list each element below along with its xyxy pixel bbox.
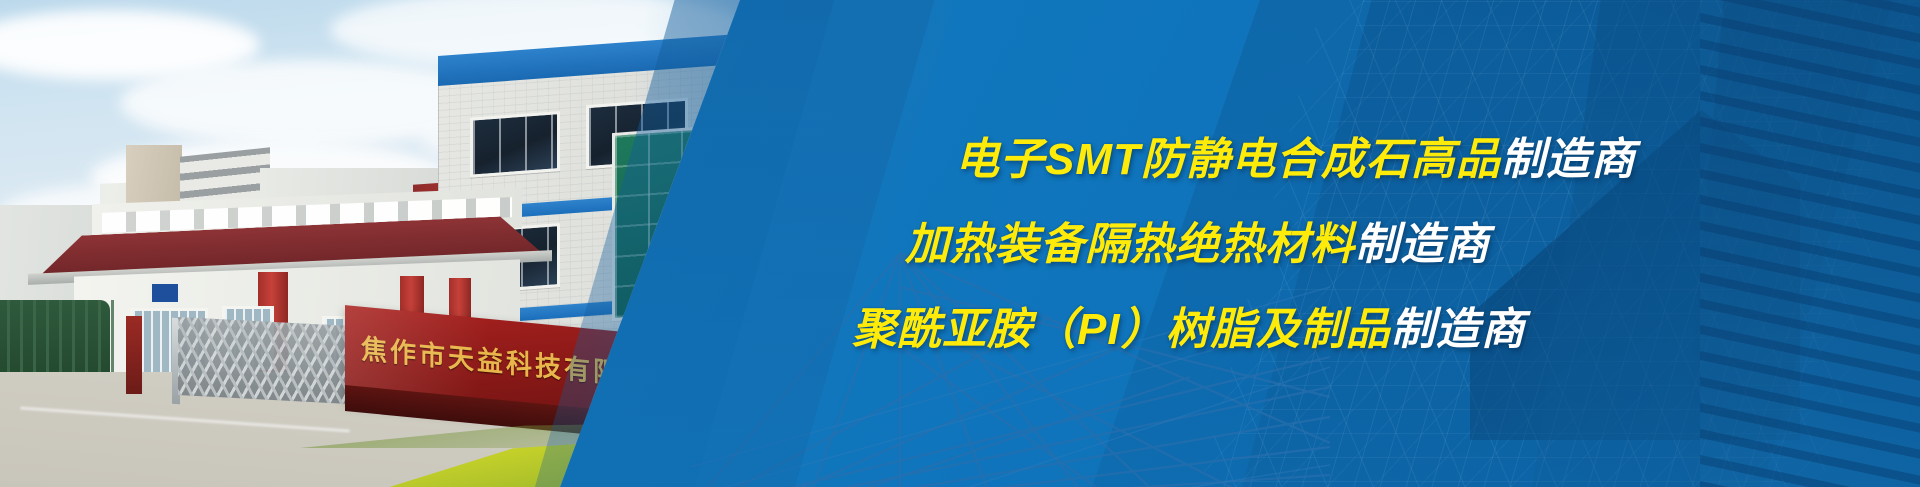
louvre-slats	[1700, 0, 1920, 487]
space-frame-truss	[690, 247, 1330, 487]
gate-post	[126, 316, 142, 394]
accordion-gate	[178, 317, 368, 405]
hero-banner: 焦作市天益科技有限公司 电子SMT防静电合成石高品制造商 加热装备隔热绝热材料制…	[0, 0, 1920, 487]
doorplate	[150, 282, 180, 304]
